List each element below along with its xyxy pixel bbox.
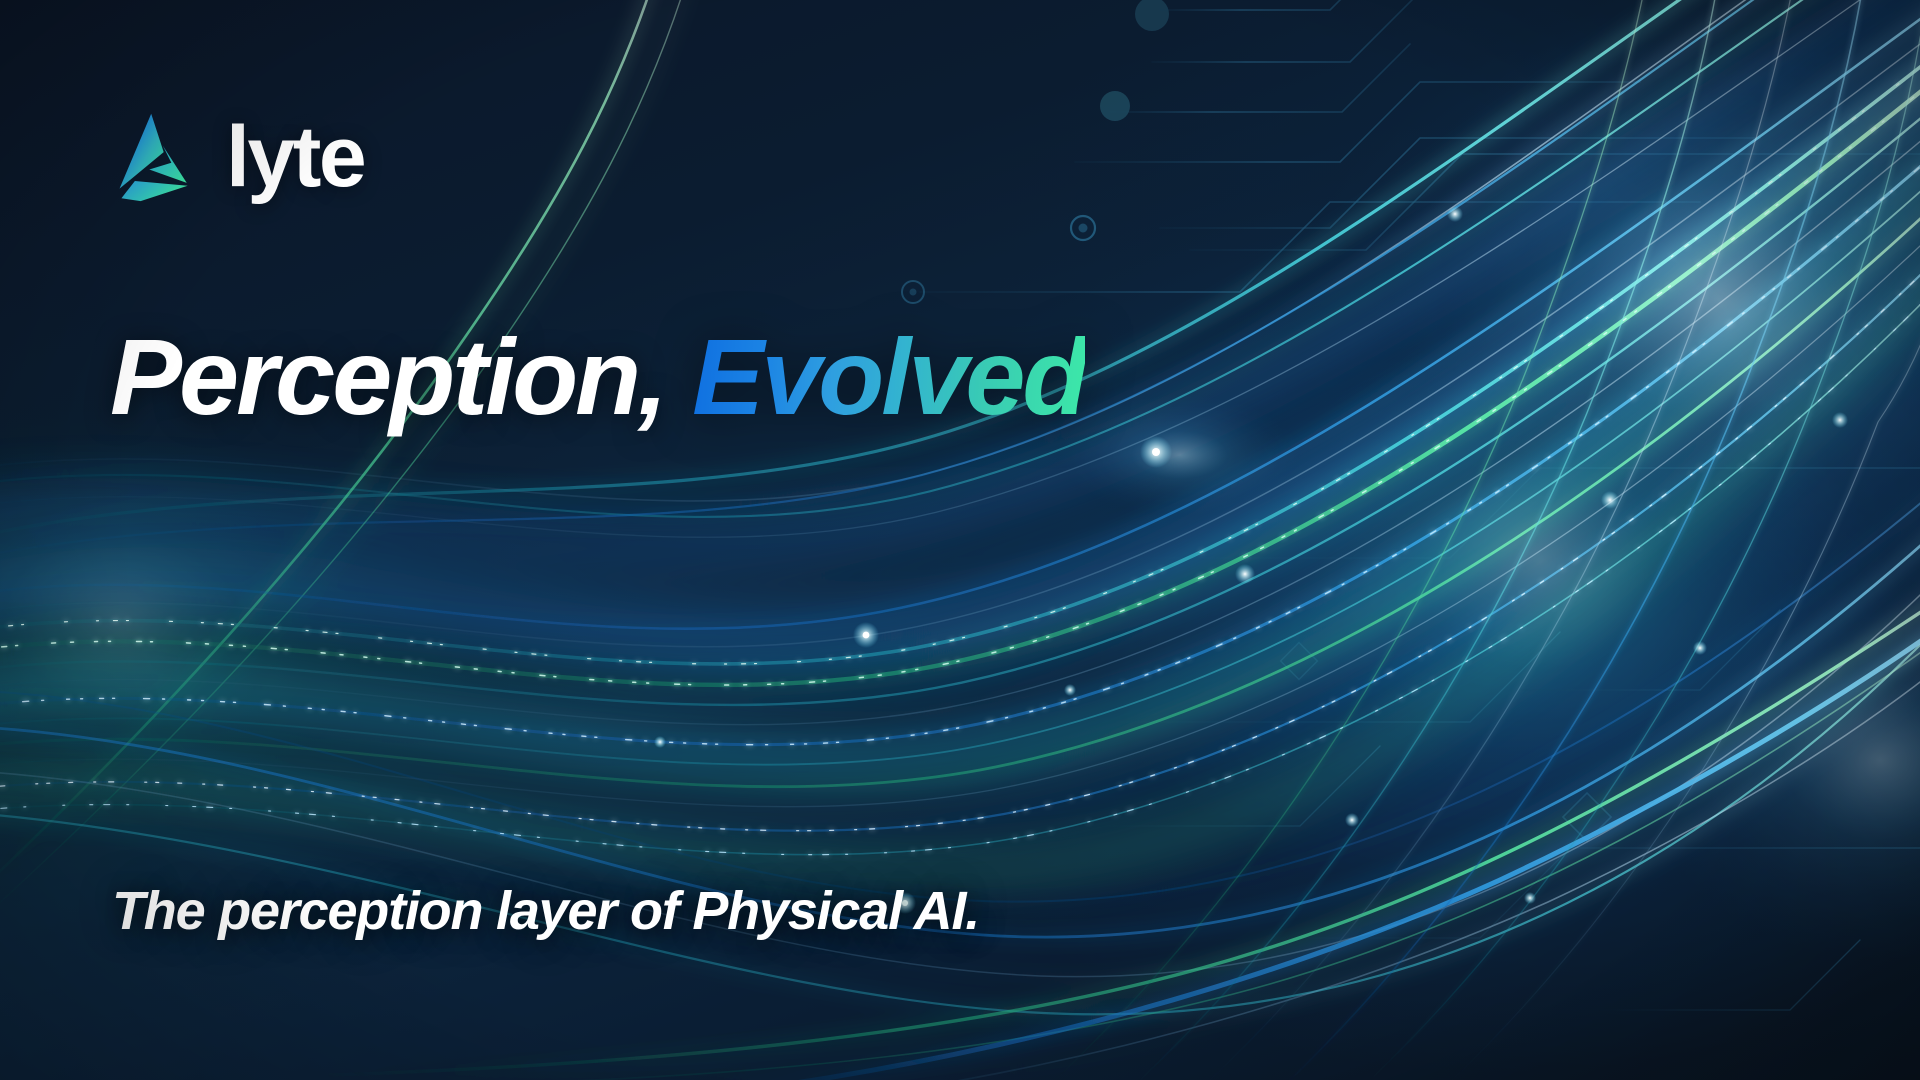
headline-lead-text: Perception, — [110, 316, 665, 437]
headline-accent-text: Evolved — [692, 316, 1085, 437]
hero-banner: lyte Perception, Evolved The perception … — [0, 0, 1920, 1080]
page-headline: Perception, Evolved — [110, 322, 1085, 432]
brand-wordmark: lyte — [226, 121, 364, 195]
page-tagline: The perception layer of Physical AI. — [112, 880, 979, 942]
alyte-triangle-mark-icon — [108, 108, 204, 204]
hero-content: lyte Perception, Evolved The perception … — [0, 0, 1920, 1080]
brand-logo-lockup[interactable]: lyte — [108, 108, 364, 204]
